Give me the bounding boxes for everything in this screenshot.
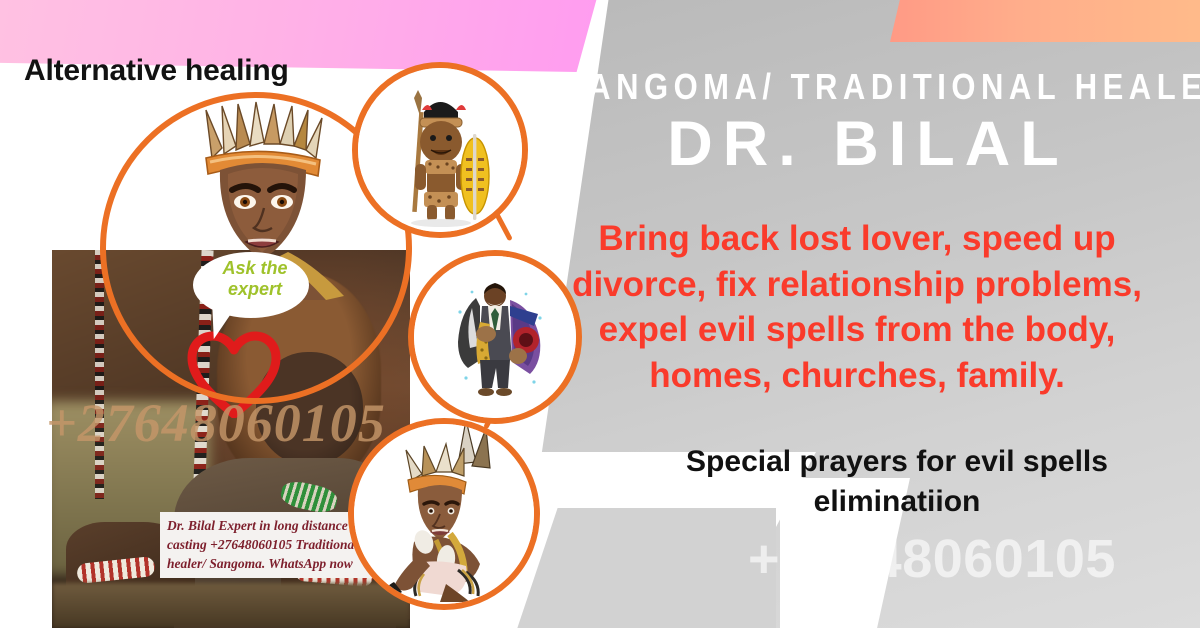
- dancer-illustration: [354, 424, 534, 604]
- speech-bubble-text: Ask the expert: [203, 258, 307, 300]
- photo-watermark-phone: +27648060105: [46, 392, 386, 454]
- circle-warrior: [352, 62, 528, 238]
- watermark-phone: +27648060105: [672, 528, 1192, 590]
- warrior-illustration: [358, 68, 522, 232]
- services-text: Bring back lost lover, speed up divorce,…: [534, 216, 1180, 398]
- circle-dancer: [348, 418, 540, 610]
- alternative-healing-heading: Alternative healing: [24, 54, 289, 88]
- poster-canvas: Alternative healing +27648060105 Dr. Bil…: [0, 0, 1200, 628]
- brand-name: DR. BILAL: [562, 108, 1174, 180]
- special-offer-text: Special prayers for evil spells eliminat…: [614, 442, 1180, 521]
- photo-bead-strap-left: [95, 250, 104, 499]
- top-orange-bar: [890, 0, 1200, 42]
- kicker-headline: SANGOMA/ TRADITIONAL HEALER: [562, 66, 1174, 108]
